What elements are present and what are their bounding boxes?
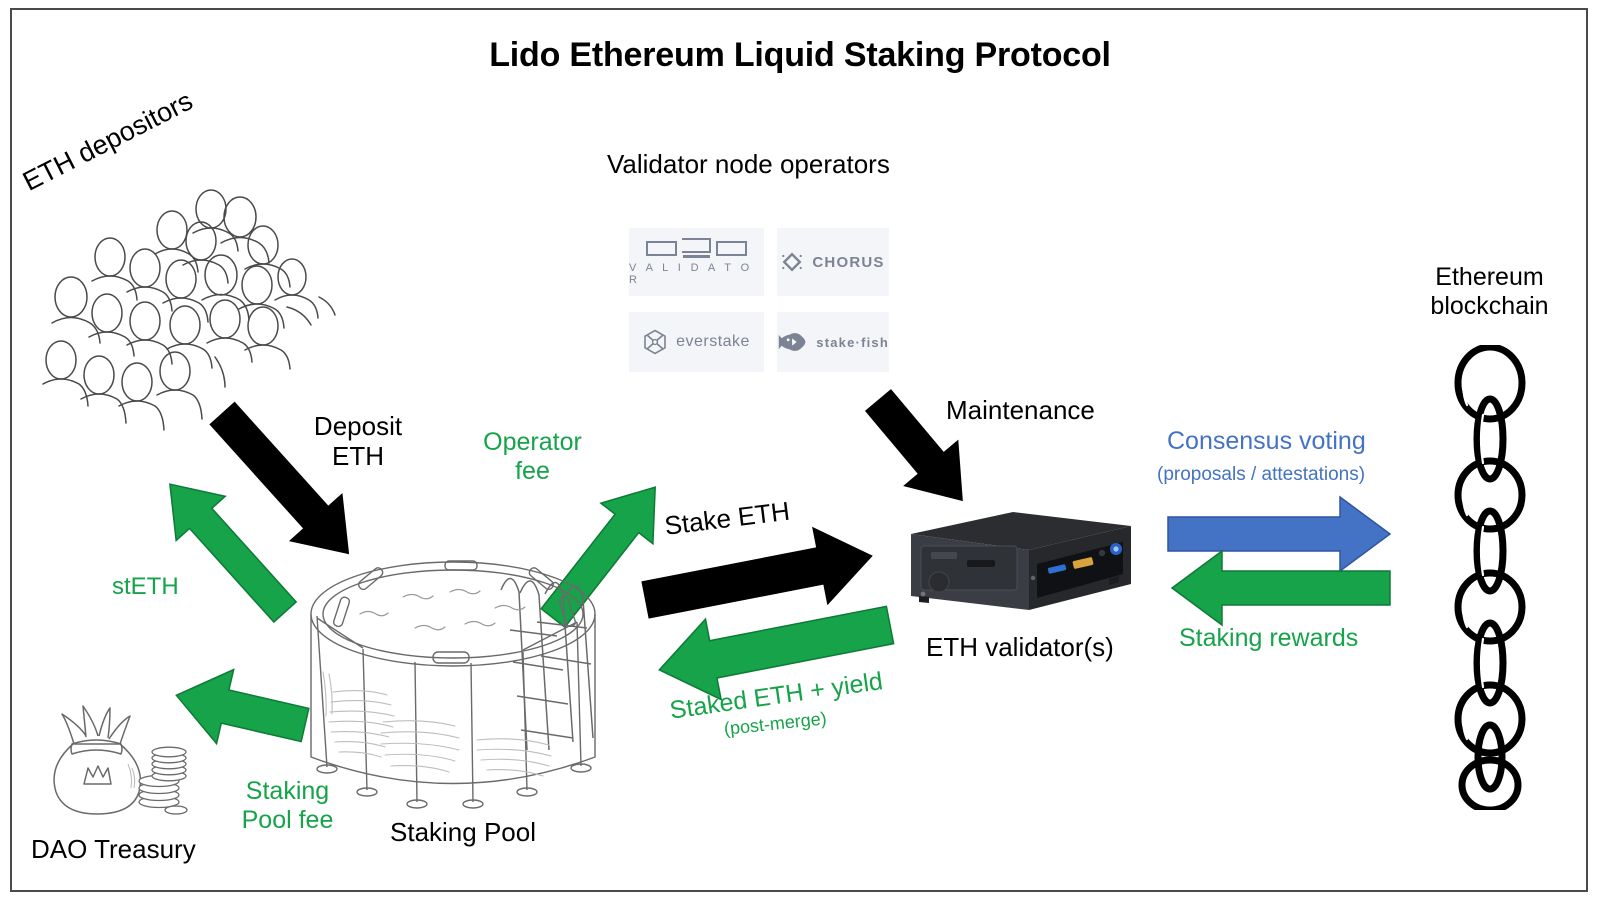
label-dao-treasury: DAO Treasury — [31, 835, 196, 865]
operator-label-chorus: CHORUS — [812, 254, 884, 271]
operator-card-stakefish[interactable]: stake·fish — [777, 312, 889, 372]
label-operator-fee: Operator fee — [470, 428, 595, 486]
label-staking-rewards: Staking rewards — [1179, 624, 1358, 653]
label-maintenance: Maintenance — [946, 396, 1095, 426]
operator-label-stakefish: stake·fish — [816, 335, 889, 350]
label-proposals-attestations: (proposals / attestations) — [1157, 464, 1365, 486]
page-title: Lido Ethereum Liquid Staking Protocol — [0, 36, 1600, 75]
label-consensus-voting: Consensus voting — [1167, 427, 1366, 456]
money-bag-and-coins-illustration — [40, 700, 190, 825]
label-eth-validator: ETH validator(s) — [926, 633, 1114, 663]
operator-label-p2p: V A L I D A T O R — [629, 262, 764, 286]
label-steth: stETH — [112, 573, 179, 601]
label-validator-node-operators: Validator node operators — [607, 150, 890, 180]
operator-card-p2p[interactable]: V A L I D A T O R — [629, 228, 764, 296]
operator-label-everstake: everstake — [676, 333, 750, 351]
chorus-diamond-icon — [781, 251, 803, 273]
label-staking-pool: Staking Pool — [390, 818, 536, 848]
blockchain-chain-illustration — [1435, 345, 1545, 810]
swimming-pool-illustration — [305, 552, 635, 822]
mini-pc-validator-illustration — [905, 508, 1135, 618]
operator-card-everstake[interactable]: everstake — [629, 312, 764, 372]
diagram-canvas: Lido Ethereum Liquid Staking Protocol — [0, 0, 1600, 908]
stakefish-fish-icon — [777, 330, 807, 354]
label-deposit-eth: Deposit ETH — [303, 412, 413, 472]
label-ethereum-blockchain: Ethereum blockchain — [1417, 263, 1562, 321]
p2p-bars-icon — [646, 238, 747, 258]
everstake-hexagon-icon — [643, 329, 667, 355]
operator-card-chorus[interactable]: CHORUS — [777, 228, 889, 296]
